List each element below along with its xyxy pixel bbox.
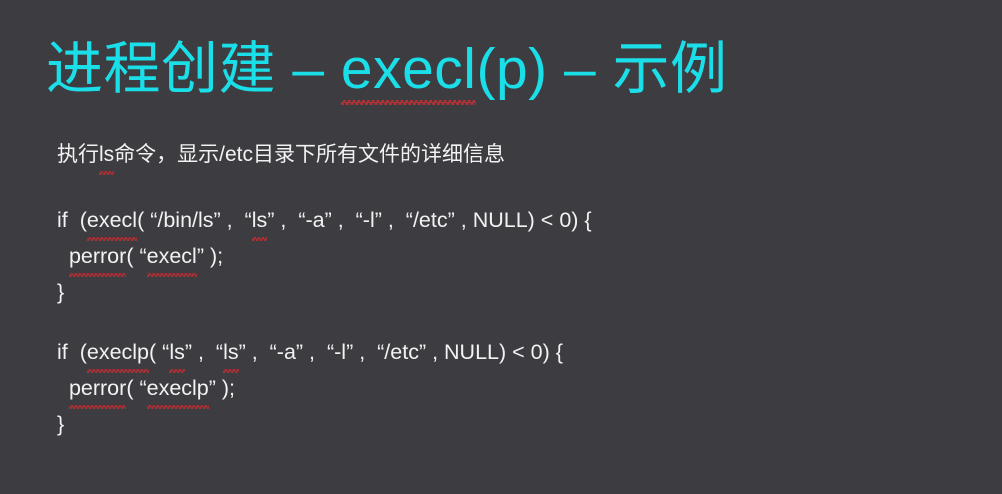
code-line-execl-close-brace: } [57, 274, 957, 310]
caption-code-spacer [57, 172, 957, 202]
execl-perror-seg-2: ” ); [197, 244, 223, 268]
execl-if-seg-3: ” , “-a” , “-l” , “/etc” , NULL) < 0) { [267, 208, 591, 232]
execl-misspelled-ls: ls [252, 202, 268, 238]
execlp-if-seg-2: ( “ [149, 340, 169, 364]
execl-perror-misspelled-execl: execl [147, 238, 197, 274]
caption-text-after: 命令，显示/etc目录下所有文件的详细信息 [114, 143, 505, 166]
execlp-perror-misspelled-execlp: execlp [147, 370, 209, 406]
execlp-if-seg-3: ” , “ [185, 340, 223, 364]
caption-misspelled-ls: ls [99, 138, 114, 172]
caption-line: 执行ls命令，显示/etc目录下所有文件的详细信息 [57, 138, 957, 172]
code-line-execlp-perror: perror( “execlp” ); [57, 370, 957, 406]
execlp-if-seg-1: if ( [57, 340, 87, 364]
execlp-misspelled-execlp: execlp [87, 334, 149, 370]
execlp-misspelled-ls-1: ls [169, 334, 185, 370]
execl-if-seg-2: ( “/bin/ls” , “ [137, 208, 252, 232]
code-line-execl-if: if (execl( “/bin/ls” , “ls” , “-a” , “-l… [57, 202, 957, 238]
slide-canvas: 进程创建 – execl(p) – 示例 执行ls命令，显示/etc目录下所有文… [0, 0, 1002, 494]
code-block-execlp: if (execlp( “ls” , “ls” , “-a” , “-l” , … [57, 334, 957, 442]
code-line-execlp-close-brace: } [57, 406, 957, 442]
execl-perror-indent [57, 244, 69, 268]
code-line-execlp-if: if (execlp( “ls” , “ls” , “-a” , “-l” , … [57, 334, 957, 370]
execlp-misspelled-perror: perror [69, 370, 126, 406]
execlp-misspelled-ls-2: ls [223, 334, 239, 370]
execlp-perror-seg-1: ( “ [126, 376, 146, 400]
code-line-execl-perror: perror( “execl” ); [57, 238, 957, 274]
title-misspelled-execl: execl [341, 34, 477, 104]
caption-text-before: 执行 [57, 143, 99, 166]
execlp-perror-seg-2: ” ); [209, 376, 235, 400]
slide-body: 执行ls命令，显示/etc目录下所有文件的详细信息 if (execl( “/b… [57, 138, 957, 442]
execl-misspelled-execl: execl [87, 202, 137, 238]
page-title: 进程创建 – execl(p) – 示例 [46, 34, 728, 104]
title-dash-2: – [564, 37, 613, 101]
title-segment-example: 示例 [613, 37, 728, 101]
execl-misspelled-perror: perror [69, 238, 126, 274]
code-blocks-spacer [57, 310, 957, 334]
execl-if-seg-1: if ( [57, 208, 87, 232]
execlp-if-seg-4: ” , “-a” , “-l” , “/etc” , NULL) < 0) { [239, 340, 563, 364]
code-block-execl: if (execl( “/bin/ls” , “ls” , “-a” , “-l… [57, 202, 957, 310]
title-dash-1: – [292, 37, 341, 101]
title-segment-process-create: 进程创建 [46, 37, 292, 101]
title-segment-p: (p) [476, 37, 564, 101]
execl-perror-seg-1: ( “ [126, 244, 146, 268]
execlp-perror-indent [57, 376, 69, 400]
